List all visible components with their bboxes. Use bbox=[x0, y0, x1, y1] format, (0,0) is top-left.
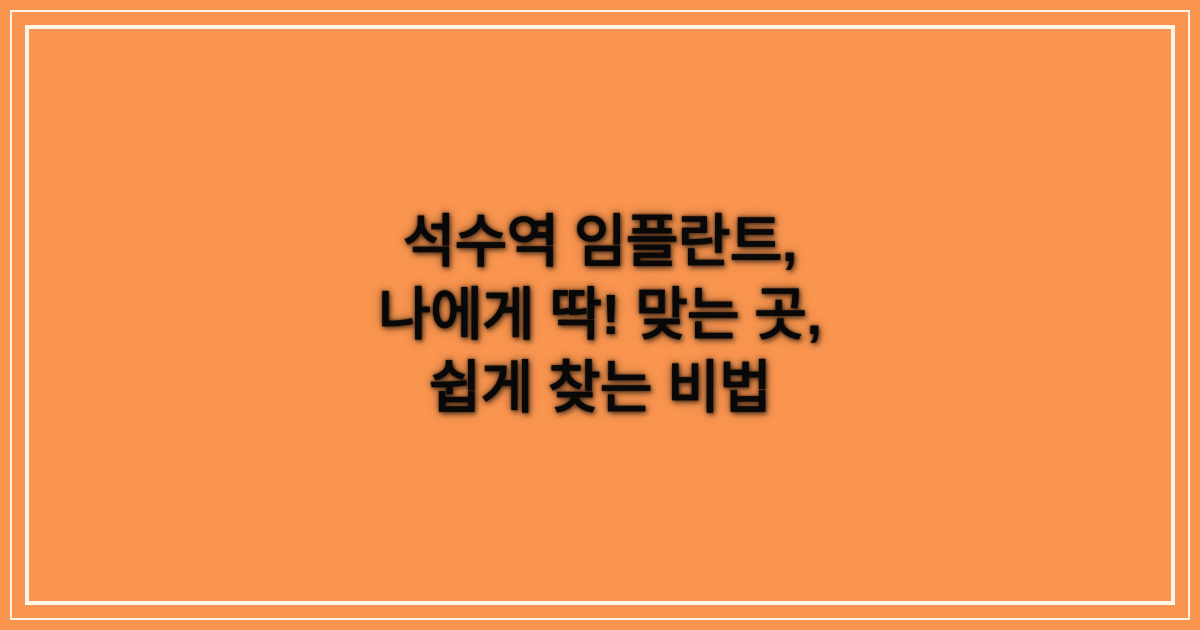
title-line-1: 석수역 임플란트, bbox=[70, 206, 1130, 279]
page-title: 석수역 임플란트, 나에게 딱! 맞는 곳, 쉽게 찾는 비법 bbox=[0, 0, 1200, 630]
thumbnail-card: 석수역 임플란트, 나에게 딱! 맞는 곳, 쉽게 찾는 비법 bbox=[0, 0, 1200, 630]
title-line-2: 나에게 딱! 맞는 곳, bbox=[70, 279, 1130, 352]
title-line-3: 쉽게 찾는 비법 bbox=[70, 352, 1130, 425]
